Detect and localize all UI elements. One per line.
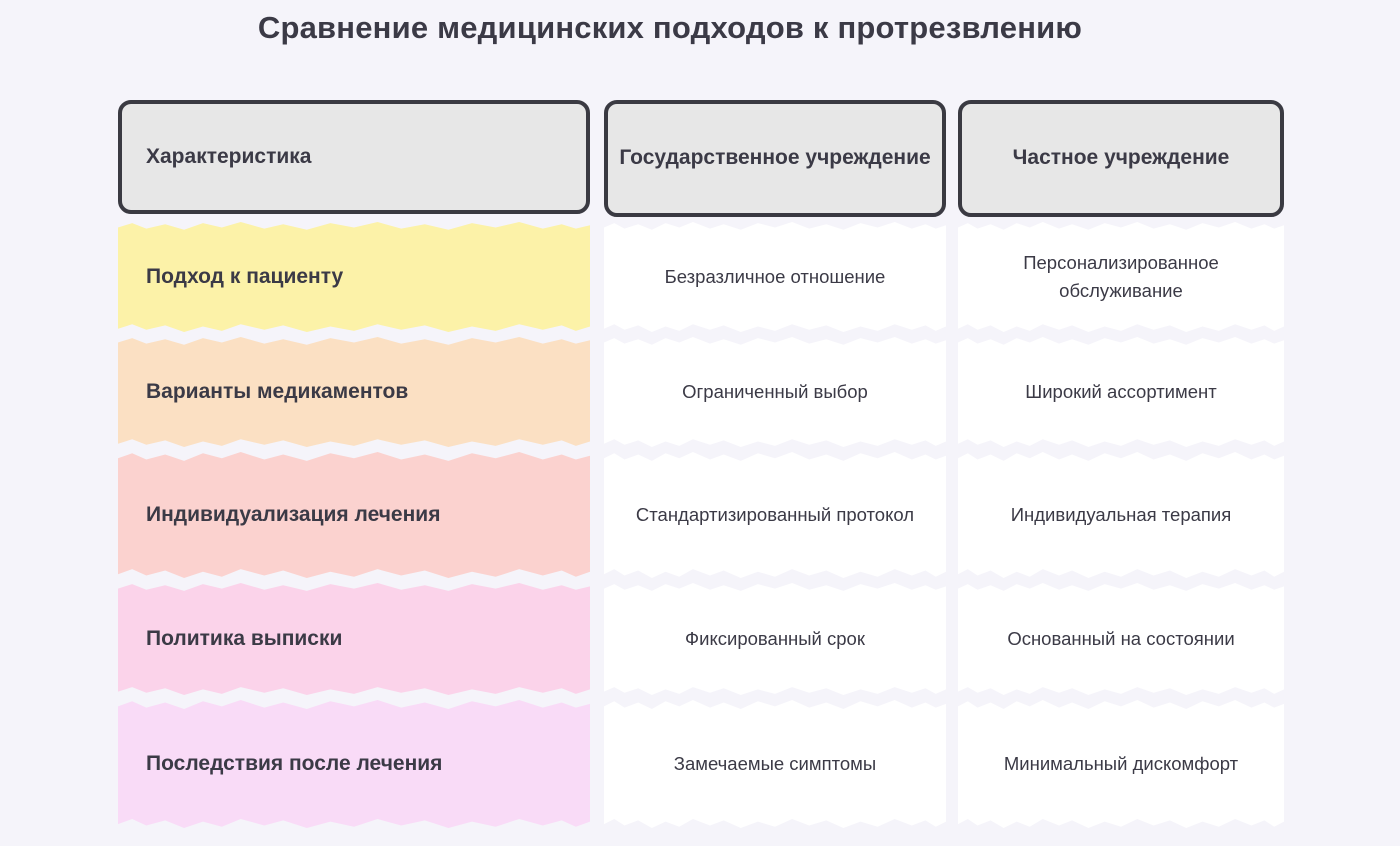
comparison-table: Характеристика Государственное учреждени…	[0, 0, 1400, 846]
table-row-feature-1: Подход к пациенту	[118, 222, 590, 332]
header-public-institution: Государственное учреждение	[604, 100, 946, 217]
value-label: Минимальный дискомфорт	[1004, 750, 1238, 778]
table-row-public-2: Ограниченный выбор	[604, 337, 946, 447]
feature-label: Варианты медикаментов	[146, 377, 408, 407]
value-label: Широкий ассортимент	[1025, 378, 1216, 406]
value-label: Фиксированный срок	[685, 625, 865, 653]
table-row-private-5: Минимальный дискомфорт	[958, 700, 1284, 828]
header-private-institution-label: Частное учреждение	[1013, 145, 1230, 172]
header-feature: Характеристика	[118, 100, 590, 214]
table-row-feature-5: Последствия после лечения	[118, 700, 590, 828]
table-row-public-4: Фиксированный срок	[604, 583, 946, 695]
value-label: Безразличное отношение	[665, 263, 886, 291]
table-row-public-5: Замечаемые симптомы	[604, 700, 946, 828]
value-label: Основанный на состоянии	[1007, 625, 1234, 653]
table-row-private-2: Широкий ассортимент	[958, 337, 1284, 447]
table-row-private-3: Индивидуальная терапия	[958, 452, 1284, 578]
value-label: Замечаемые симптомы	[674, 750, 876, 778]
header-public-institution-label: Государственное учреждение	[619, 145, 930, 172]
value-label: Индивидуальная терапия	[1011, 501, 1232, 529]
table-row-public-3: Стандартизированный протокол	[604, 452, 946, 578]
table-row-public-1: Безразличное отношение	[604, 222, 946, 332]
table-row-private-1: Персонализированное обслуживание	[958, 222, 1284, 332]
table-row-feature-3: Индивидуализация лечения	[118, 452, 590, 578]
table-row-feature-4: Политика выписки	[118, 583, 590, 695]
feature-label: Последствия после лечения	[146, 749, 442, 779]
table-row-private-4: Основанный на состоянии	[958, 583, 1284, 695]
header-private-institution: Частное учреждение	[958, 100, 1284, 217]
table-row-feature-2: Варианты медикаментов	[118, 337, 590, 447]
header-feature-label: Характеристика	[146, 144, 311, 171]
feature-label: Индивидуализация лечения	[146, 500, 440, 530]
value-label: Персонализированное обслуживание	[972, 249, 1270, 305]
feature-label: Подход к пациенту	[146, 262, 343, 292]
value-label: Ограниченный выбор	[682, 378, 868, 406]
value-label: Стандартизированный протокол	[636, 501, 914, 529]
feature-label: Политика выписки	[146, 624, 342, 654]
